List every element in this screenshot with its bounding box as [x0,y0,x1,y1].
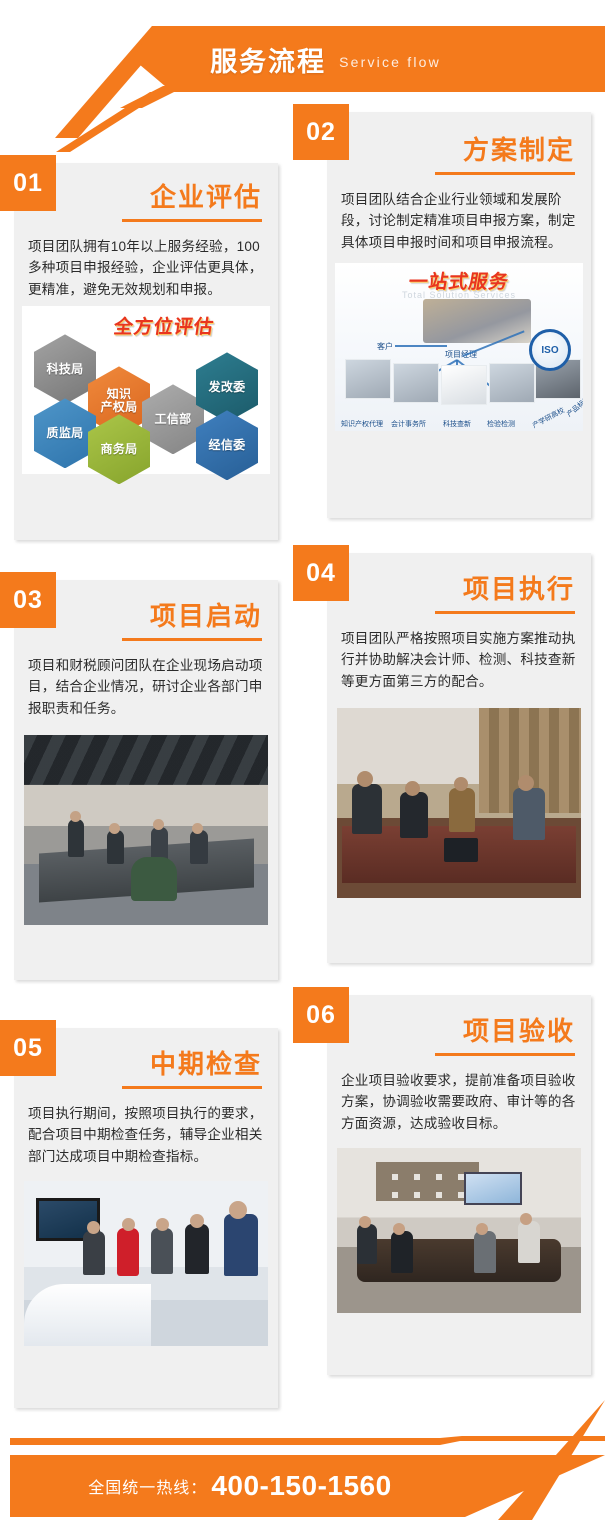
person-head [393,1223,405,1235]
step-card-05[interactable]: 中期检查 项目执行期间，按照项目执行的要求，配合项目中期检查任务，辅导企业相关部… [14,1028,278,1408]
step-card-06[interactable]: 项目验收 企业项目验收要求，提前准备项目验收方案，协调验收需要政府、审计等的各方… [327,995,591,1375]
person-head [357,771,373,787]
hex-node-6: 经信委 [196,410,258,480]
hotline-label: 全国统一热线： [88,1474,207,1498]
hexagon-infographic: 全方位评估 科技局 知识 产权局 质监局 工信部 商务局 发改委 经信委 [22,306,270,474]
service-arrow-0 [395,345,447,347]
person-head [520,1213,532,1225]
step-card-03[interactable]: 项目启动 项目和财税顾问团队在企业现场启动项目，结合企业情况，研讨企业各部门申报… [14,580,278,980]
step-card-01[interactable]: 企业评估 项目团队拥有10年以上服务经验，100多种项目申报经验，企业评估更具体… [14,163,278,540]
person-figure [107,830,124,864]
boardroom-review-photo [337,1148,581,1313]
photo-scene-boardroom [337,1148,581,1313]
hex-node-2: 质监局 [34,398,96,468]
person-head [359,1216,371,1228]
service-node-1 [393,363,439,403]
photo-scene-office [337,708,581,898]
service-node-0 [345,359,391,399]
step-badge-02: 02 [293,104,349,160]
meeting-room-photo [24,735,268,925]
page-subtitle: Service flow [339,54,441,70]
service-node-3 [489,363,535,403]
laptop [444,838,478,862]
step-badge-04: 04 [293,545,349,601]
header-title-group: 服务流程 Service flow [0,26,605,92]
person-figure [68,819,84,857]
step-card-04[interactable]: 项目执行 项目团队严格按照项目实施方案推动执行并协助解决会计师、检测、科技查新等… [327,553,591,963]
person-figure [224,1214,258,1276]
person-head [454,777,468,791]
hex-node-4: 商务局 [88,414,150,484]
hexagon-title: 全方位评估 [112,312,216,339]
person-figure [391,1231,413,1273]
person-figure-red-coat [117,1228,139,1276]
ceiling-pattern [24,735,268,784]
card-body-05: 项目执行期间，按照项目执行的要求，配合项目中期检查任务，辅导企业相关部门达成项目… [14,1089,278,1167]
step-card-02[interactable]: 方案制定 项目团队结合企业行业领域和发展阶段，讨论制定精准项目申报方案，制定具体… [327,112,591,518]
step-badge-01: 01 [0,155,56,211]
card-body-01: 项目团队拥有10年以上服务经验，100多种项目申报经验，企业评估更具体，更精准，… [14,222,278,300]
service-hub-photo [423,299,531,343]
hotline-number[interactable]: 400-150-1560 [211,1470,391,1502]
person-figure [449,788,475,832]
photo-scene-showroom [24,1181,268,1346]
person-figure [83,1231,105,1275]
person-figure [151,1228,173,1274]
card-body-03: 项目和财税顾问团队在企业现场启动项目，结合企业情况，研讨企业各部门申报职责和任务… [14,641,278,719]
projection-screen [464,1172,523,1205]
step-badge-06: 06 [293,987,349,1043]
person-figure [357,1224,377,1264]
service-node-label-1: 会计事务所 [391,419,426,429]
person-figure [352,784,382,834]
display-counter [24,1284,151,1347]
person-head [156,1218,169,1231]
card-body-06: 企业项目验收要求，提前准备项目验收方案，协调验收需要政府、审计等的各方面资源，达… [327,1056,591,1134]
hex-node-3: 工信部 [142,384,204,454]
person-head [122,1218,135,1231]
person-figure [513,788,545,840]
service-client-label: 客户 [377,341,393,352]
service-node-label-0: 知识产权代理 [341,419,383,429]
one-stop-service-diagram: 一站式服务 Total Solution Services 客户 项目经理 IS… [335,263,583,431]
service-node-label-4: 产学研高校 [531,406,567,431]
hex-node-0: 科技局 [34,334,96,404]
hotline-group: 全国统一热线： 400-150-1560 [10,1455,470,1517]
card-title-04: 项目执行 [327,553,591,606]
step-badge-05: 05 [0,1020,56,1076]
person-head [476,1223,488,1235]
page-title: 服务流程 [210,40,326,79]
person-figure [190,830,208,864]
card-title-06: 项目验收 [327,995,591,1048]
person-figure [518,1221,540,1263]
person-figure [151,827,168,861]
service-node-labels: 知识产权代理 会计事务所 科技查新 检验检测 产学研高校 产品标准推广 [335,415,583,429]
person-figure [474,1231,496,1273]
person-head [518,775,534,791]
office-working-photo [337,708,581,898]
person-head [405,781,420,796]
showroom-visit-photo [24,1181,268,1346]
step-badge-03: 03 [0,572,56,628]
service-node-2 [441,365,487,405]
service-node-label-3: 检验检测 [487,419,515,429]
person-figure [131,857,177,901]
photo-scene-meeting [24,735,268,925]
service-flow-poster: 服务流程 Service flow 企业评估 项目团队拥有10年以上服务经验，1… [0,0,605,1538]
card-body-02: 项目团队结合企业行业领域和发展阶段，讨论制定精准项目申报方案，制定具体项目申报时… [327,175,591,253]
person-figure [185,1224,209,1274]
person-figure [400,792,428,838]
card-body-04: 项目团队严格按照项目实施方案推动执行并协助解决会计师、检测、科技查新等更方面第三… [327,614,591,692]
service-node-label-2: 科技查新 [443,419,471,429]
card-title-02: 方案制定 [327,112,591,167]
footer-accent-rule [10,1436,605,1452]
